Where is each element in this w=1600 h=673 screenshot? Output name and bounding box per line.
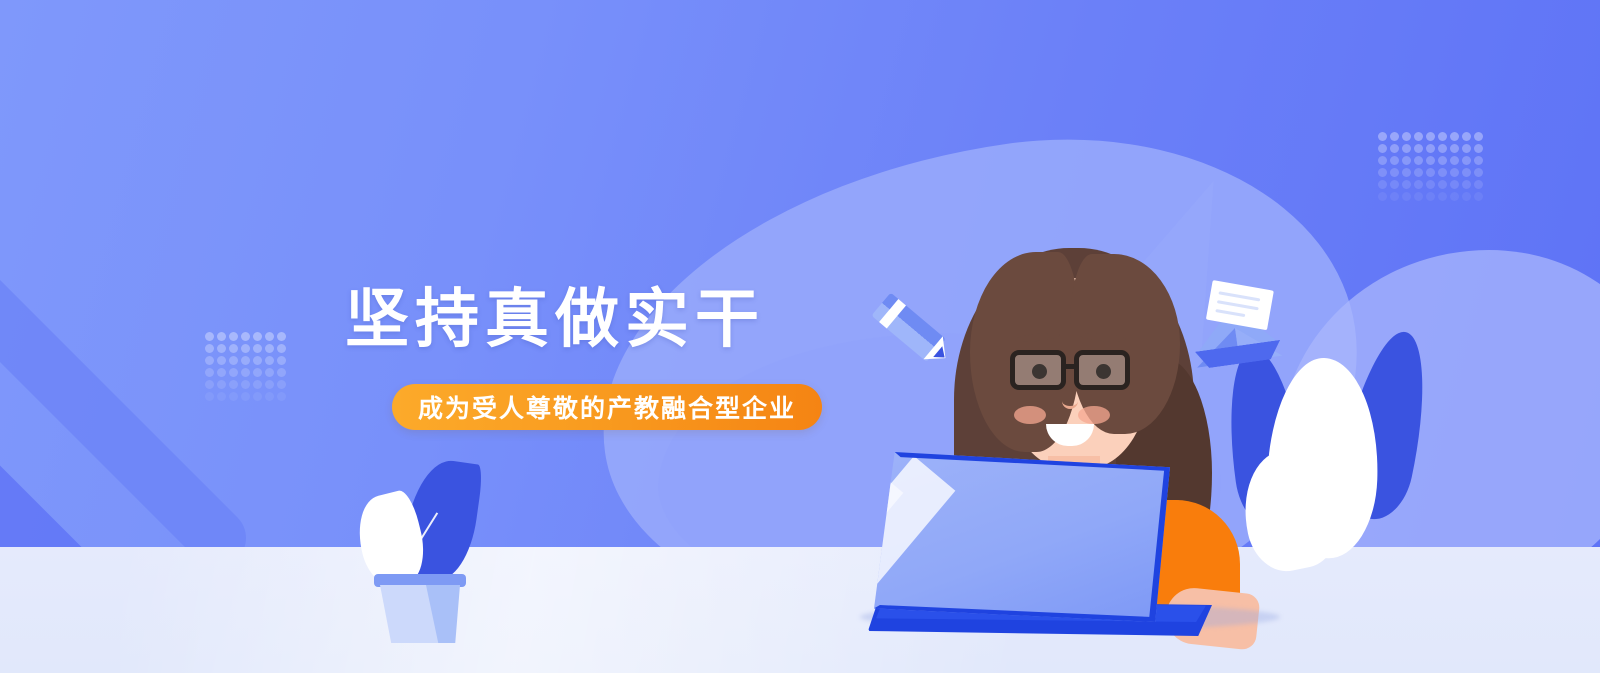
grid-dot (1414, 144, 1423, 153)
grid-dot (1390, 180, 1399, 189)
grid-dot (1390, 168, 1399, 177)
grid-dot (217, 368, 226, 377)
grid-dot (1390, 156, 1399, 165)
grid-dot (1462, 144, 1471, 153)
grid-dot (253, 332, 262, 341)
grid-dot (205, 344, 214, 353)
grid-dot (1450, 132, 1459, 141)
grid-dot (265, 380, 274, 389)
grid-dot (205, 368, 214, 377)
laptop-screen-glare (874, 452, 1170, 622)
eye-right (1096, 364, 1111, 379)
grid-dot (1438, 192, 1447, 201)
grid-dot (217, 344, 226, 353)
grid-dot (1438, 144, 1447, 153)
grid-dot (1426, 144, 1435, 153)
grid-dot (1390, 144, 1399, 153)
grid-dot (1426, 156, 1435, 165)
grid-dot (1402, 192, 1411, 201)
grid-dot (217, 356, 226, 365)
grid-dot (217, 392, 226, 401)
grid-dot (1450, 180, 1459, 189)
grid-dot (1474, 144, 1483, 153)
grid-dot (241, 332, 250, 341)
grid-dot (229, 368, 238, 377)
grid-dot (241, 380, 250, 389)
grid-dot (1390, 192, 1399, 201)
grid-dot (1474, 168, 1483, 177)
grid-dot (265, 368, 274, 377)
grid-dot (1462, 192, 1471, 201)
grid-dot (1450, 192, 1459, 201)
grid-dot (265, 356, 274, 365)
grid-dot (1402, 144, 1411, 153)
grid-dot (265, 344, 274, 353)
grid-dot (253, 368, 262, 377)
grid-dot (277, 356, 286, 365)
grid-dot (1438, 168, 1447, 177)
grid-dot (1378, 168, 1387, 177)
grid-dot (205, 392, 214, 401)
grid-dot (1414, 156, 1423, 165)
grid-dot (1414, 132, 1423, 141)
grid-dot (277, 380, 286, 389)
grid-dot (229, 332, 238, 341)
grid-dot (241, 344, 250, 353)
eye-left (1032, 364, 1047, 379)
grid-dot (1390, 132, 1399, 141)
grid-dot (217, 380, 226, 389)
cheek-right (1078, 406, 1110, 424)
grid-dot (229, 380, 238, 389)
grid-dot (1402, 180, 1411, 189)
grid-dot (1450, 144, 1459, 153)
grid-dot (253, 344, 262, 353)
banner-subtitle-pill: 成为受人尊敬的产教融合型企业 (392, 384, 822, 430)
grid-dot (1474, 156, 1483, 165)
grid-dot (1426, 180, 1435, 189)
grid-dot (277, 392, 286, 401)
grid-dot (1402, 156, 1411, 165)
eyeglasses-icon (1010, 350, 1156, 392)
grid-dot (1474, 132, 1483, 141)
grid-dot (1438, 180, 1447, 189)
glare-stripe-wide (874, 456, 955, 622)
grid-dot (277, 368, 286, 377)
grid-dot (1462, 168, 1471, 177)
grid-dot (1414, 192, 1423, 201)
grid-dot (1378, 156, 1387, 165)
glasses-bridge (1064, 364, 1078, 369)
grid-dot (205, 356, 214, 365)
grid-dot (241, 356, 250, 365)
grid-dot (253, 356, 262, 365)
cheek-left (1014, 406, 1046, 424)
grid-dot (265, 332, 274, 341)
grid-dot (229, 392, 238, 401)
grid-dot (1474, 192, 1483, 201)
laptop-icon (868, 452, 1212, 642)
grid-dot (1426, 132, 1435, 141)
grid-dot (1402, 132, 1411, 141)
grid-dot (241, 368, 250, 377)
banner-headline: 坚持真做实干 (345, 286, 765, 353)
grid-dot (1414, 180, 1423, 189)
grid-dot (1378, 180, 1387, 189)
grid-dot (253, 380, 262, 389)
grid-dot (1438, 132, 1447, 141)
grid-dot (1450, 156, 1459, 165)
grid-dot (1402, 168, 1411, 177)
grid-dot (1438, 156, 1447, 165)
promo-banner: 坚持真做实干 成为受人尊敬的产教融合型企业 (0, 0, 1600, 673)
grid-dot (229, 356, 238, 365)
grid-dot (1426, 168, 1435, 177)
grid-dot (277, 344, 286, 353)
grid-dot (1462, 180, 1471, 189)
grid-dot (1378, 132, 1387, 141)
grid-dot (1462, 132, 1471, 141)
grid-dot (1462, 156, 1471, 165)
grid-dot (1414, 168, 1423, 177)
grid-dot (241, 392, 250, 401)
grid-dot (205, 332, 214, 341)
grid-dot (265, 392, 274, 401)
grid-dot (1378, 192, 1387, 201)
grid-dot (1450, 168, 1459, 177)
grid-dot (1426, 192, 1435, 201)
grid-dot (253, 392, 262, 401)
potted-plant-icon (352, 452, 492, 632)
grid-dot (1474, 180, 1483, 189)
grid-dot (217, 332, 226, 341)
grid-dot (277, 332, 286, 341)
grid-dot (229, 344, 238, 353)
grid-dot (1378, 144, 1387, 153)
grid-dot (205, 380, 214, 389)
